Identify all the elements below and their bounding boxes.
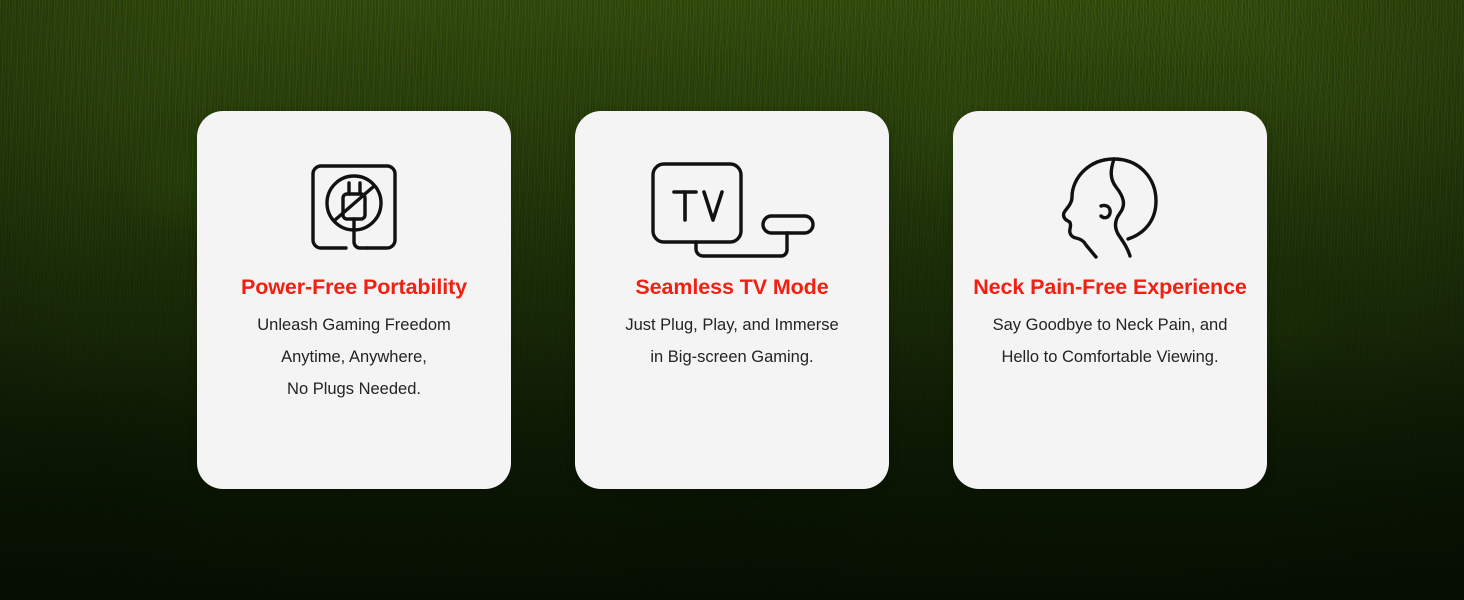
feature-card-title-line: Neck Pain-Free [973,275,1127,299]
feature-highlights-banner: Power-Free Portability Unleash Gaming Fr… [0,0,1464,600]
head-profile-neck-icon [1054,153,1166,261]
feature-card-title: Power-Free Portability [241,271,467,303]
feature-card-body-line: in Big-screen Gaming. [625,341,838,373]
feature-card-body: Say Goodbye to Neck Pain, and Hello to C… [993,309,1228,373]
feature-card-body-line: Hello to Comfortable Viewing. [993,341,1228,373]
feature-card-title: Seamless TV Mode [635,271,828,303]
feature-card-title-line: Experience [1133,275,1247,299]
tv-screen-cable-icon [647,153,817,261]
feature-card-body-line: Say Goodbye to Neck Pain, and [993,309,1228,341]
feature-card-seamless-tv-mode[interactable]: Seamless TV Mode Just Plug, Play, and Im… [575,111,889,489]
feature-card-body: Just Plug, Play, and Immerse in Big-scre… [625,309,838,373]
feature-card-power-free-portability[interactable]: Power-Free Portability Unleash Gaming Fr… [197,111,511,489]
feature-card-body-line: Unleash Gaming Freedom [257,309,451,341]
feature-card-neck-pain-free-experience[interactable]: Neck Pain-Free Experience Say Goodbye to… [953,111,1267,489]
feature-card-title: Neck Pain-Free Experience [973,271,1247,303]
feature-card-body-line: No Plugs Needed. [257,373,451,405]
feature-card-body-line: Anytime, Anywhere, [257,341,451,373]
feature-card-body: Unleash Gaming Freedom Anytime, Anywhere… [257,309,451,405]
no-power-plug-icon [305,153,403,261]
feature-card-list: Power-Free Portability Unleash Gaming Fr… [0,0,1464,600]
feature-card-body-line: Just Plug, Play, and Immerse [625,309,838,341]
